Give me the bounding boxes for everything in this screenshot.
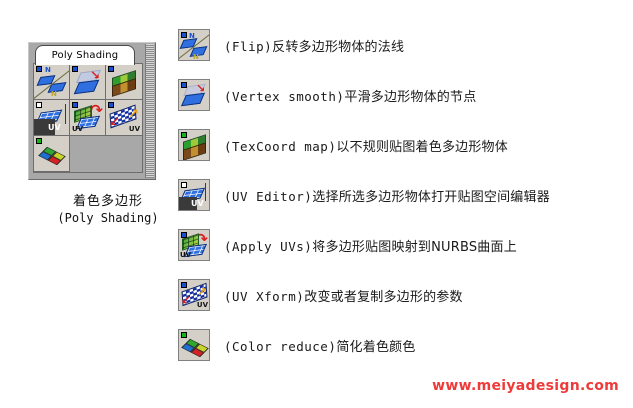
xform-arrow-right-icon: ↗ — [197, 286, 207, 298]
selection-marker-icon — [181, 82, 187, 88]
flip-normals-icon[interactable]: N N — [178, 29, 210, 61]
list-item-text: (UV Editor)选择所选多边形物体打开贴图空间编辑器 — [224, 186, 550, 205]
list-item-code: (UV Editor) — [224, 189, 312, 204]
uv-xform-icon — [108, 102, 114, 108]
list-item-code: (Vertex smooth) — [224, 89, 344, 104]
selection-marker-icon — [181, 282, 187, 288]
color-quad-icon — [38, 147, 66, 165]
uv-label-icon: UV — [129, 125, 140, 133]
xform-arrow-left-icon: ↙ — [181, 294, 191, 306]
poly-shading-palette[interactable]: Poly Shading N N ↘ — [28, 42, 156, 180]
palette-caption: 着色多边形 (Poly Shading) — [28, 194, 188, 226]
uv-label-icon: UV — [180, 251, 191, 259]
tool-description-list: N N (Flip)反转多边形物体的法线 ↘ (Vertex smooth)平滑… — [178, 24, 628, 374]
list-item-text: (Apply UVs)将多边形贴图映射到NURBS曲面上 — [224, 236, 517, 255]
selection-marker-icon — [181, 332, 187, 338]
selection-marker-icon — [181, 182, 187, 188]
color-reduce-icon[interactable] — [178, 329, 210, 361]
list-item[interactable]: UV (UV Editor)选择所选多边形物体打开贴图空间编辑器 — [178, 174, 628, 216]
n-label-icon: N — [45, 66, 51, 74]
list-item[interactable]: ↙ ↗ UV (UV Xform)改变或者复制多边形的参数 — [178, 274, 628, 316]
uv-editor-icon — [36, 102, 42, 108]
palette-scrollbar[interactable] — [145, 44, 154, 178]
color-reduce-icon — [36, 138, 42, 144]
list-item-desc: 反转多边形物体的法线 — [272, 40, 404, 55]
list-item[interactable]: ↘ (Vertex smooth)平滑多边形物体的节点 — [178, 74, 628, 116]
list-item[interactable]: N N (Flip)反转多边形物体的法线 — [178, 24, 628, 66]
list-item-desc: 简化着色颜色 — [336, 340, 415, 355]
palette-panel-wrapper: Poly Shading N N ↘ — [28, 42, 156, 180]
axis-vertical-icon — [65, 104, 66, 124]
palette-cell-apply-uvs[interactable]: ↷ UV — [70, 100, 106, 136]
palette-cell-empty — [70, 136, 106, 172]
list-item-desc: 平滑多边形物体的节点 — [344, 90, 476, 105]
list-item-code: (TexCoord map) — [224, 139, 336, 154]
palette-cell-color-reduce[interactable] — [34, 136, 70, 172]
flip-normals-icon — [36, 66, 42, 72]
uv-label-icon: UV — [197, 301, 208, 309]
axis-vertical-icon — [205, 183, 206, 201]
vertex-smooth-icon[interactable]: ↘ — [178, 79, 210, 111]
list-item[interactable]: (Color reduce)简化着色颜色 — [178, 324, 628, 366]
palette-title-tab[interactable]: Poly Shading — [35, 45, 135, 65]
palette-title-label: Poly Shading — [52, 50, 119, 61]
list-item-code: (Apply UVs) — [224, 239, 312, 254]
palette-caption-cn: 着色多边形 — [28, 194, 188, 210]
palette-tool-grid: N N ↘ — [33, 63, 143, 173]
list-item-desc: 以不规则贴图着色多边形物体 — [336, 140, 508, 155]
list-item[interactable]: ↷ UV (Apply UVs)将多边形贴图映射到NURBS曲面上 — [178, 224, 628, 266]
list-item-code: (Flip) — [224, 39, 272, 54]
list-item-text: (UV Xform)改变或者复制多边形的参数 — [224, 286, 463, 305]
list-item-code: (UV Xform) — [224, 289, 304, 304]
selection-marker-icon — [181, 232, 187, 238]
n-label-icon: N — [189, 32, 195, 40]
palette-cell-empty — [106, 136, 142, 172]
palette-cell-uv-xform[interactable]: ↙ ↗ UV — [106, 100, 142, 136]
list-item[interactable]: (TexCoord map)以不规则贴图着色多边形物体 — [178, 124, 628, 166]
list-item-text: (TexCoord map)以不规则贴图着色多边形物体 — [224, 136, 508, 155]
palette-caption-en: (Poly Shading) — [28, 210, 188, 226]
palette-cell-vertex-smooth[interactable]: ↘ — [70, 64, 106, 100]
apply-uvs-icon[interactable]: ↷ UV — [178, 229, 210, 261]
uv-label-icon: UV — [72, 125, 83, 133]
uv-label-icon: UV — [191, 199, 204, 208]
selection-marker-icon — [181, 132, 187, 138]
tutorial-page: Poly Shading N N ↘ — [0, 0, 633, 408]
list-item-text: (Vertex smooth)平滑多边形物体的节点 — [224, 86, 476, 105]
list-item-desc: 改变或者复制多边形的参数 — [304, 290, 462, 305]
list-item-text: (Flip)反转多边形物体的法线 — [224, 36, 404, 55]
watermark: www.meiyadesign.com — [432, 378, 619, 394]
uv-xform-icon[interactable]: ↙ ↗ UV — [178, 279, 210, 311]
palette-cell-flip[interactable]: N N — [34, 64, 70, 100]
selection-marker-icon — [181, 32, 187, 38]
list-item-desc: 选择所选多边形物体打开贴图空间编辑器 — [312, 190, 550, 205]
list-item-text: (Color reduce)简化着色颜色 — [224, 336, 416, 355]
apply-uvs-icon — [72, 102, 78, 108]
xform-arrow-right-icon: ↗ — [128, 108, 139, 121]
n-flipped-label-icon: N — [193, 53, 199, 61]
uv-label-icon: UV — [48, 123, 61, 132]
palette-cell-texcoord-map[interactable] — [106, 64, 142, 100]
texcoord-map-icon[interactable] — [178, 129, 210, 161]
list-item-code: (Color reduce) — [224, 339, 336, 354]
n-flipped-label-icon: N — [51, 90, 57, 98]
uv-editor-icon[interactable]: UV — [178, 179, 210, 211]
palette-cell-uv-editor[interactable]: UV — [34, 100, 70, 136]
color-quad-icon — [181, 339, 209, 357]
texcoord-map-icon — [108, 66, 114, 72]
smoothed-plate-icon — [181, 93, 205, 106]
vertex-smooth-icon — [72, 66, 78, 72]
list-item-desc: 将多边形贴图映射到NURBS曲面上 — [312, 240, 517, 255]
xform-arrow-left-icon: ↙ — [109, 116, 120, 129]
